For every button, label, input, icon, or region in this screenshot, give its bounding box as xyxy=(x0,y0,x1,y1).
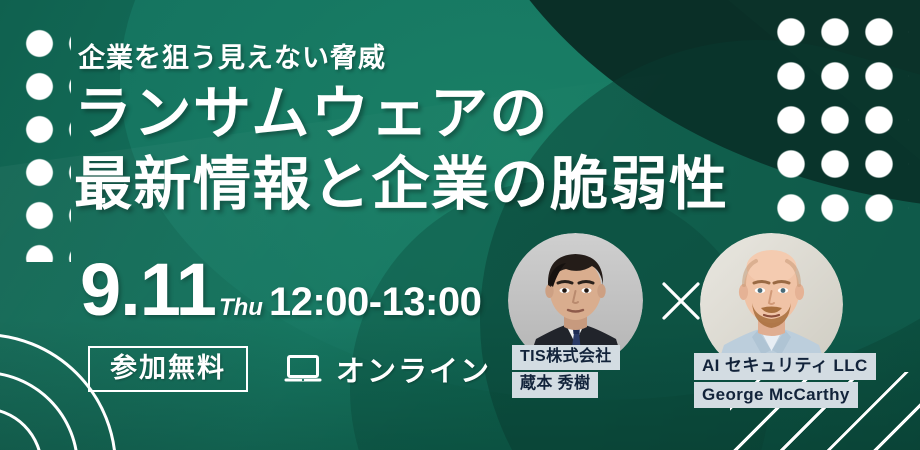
format-group: オンライン xyxy=(284,348,491,390)
speaker-company: AI セキュリティ LLC xyxy=(694,353,876,380)
speaker-caption-2: AI セキュリティ LLC George McCarthy xyxy=(694,353,876,410)
event-time: 12:00-13:00 xyxy=(269,280,481,325)
speaker-card-1: TIS株式会社 蔵本 秀樹 xyxy=(508,233,643,368)
banner-subtitle: 企業を狙う見えない脅威 xyxy=(78,36,386,75)
laptop-icon xyxy=(284,354,322,384)
page-title-line-2: 最新情報と企業の脆弱性 xyxy=(74,156,729,214)
event-date: 9.11 xyxy=(80,256,216,324)
x-cross-icon xyxy=(660,280,702,322)
event-badges: 参加無料 オンライン xyxy=(88,346,491,392)
speaker-card-2: AI セキュリティ LLC George McCarthy xyxy=(700,233,843,376)
page-title-line-1: ランサムウェアの xyxy=(74,85,549,143)
format-label: オンライン xyxy=(336,348,491,390)
fee-badge: 参加無料 xyxy=(88,346,248,392)
event-datetime: 9.11 Thu 12:00-13:00 xyxy=(80,256,481,325)
speaker-caption-1: TIS株式会社 蔵本 秀樹 xyxy=(512,345,620,400)
speaker-name: 蔵本 秀樹 xyxy=(512,372,598,397)
speaker-company: TIS株式会社 xyxy=(512,345,620,370)
speaker-name: George McCarthy xyxy=(694,382,858,409)
event-day-of-week: Thu xyxy=(219,294,263,322)
speakers-section: TIS株式会社 蔵本 秀樹 xyxy=(508,233,908,448)
webinar-banner: 企業を狙う見えない脅威 ランサムウェアの 最新情報と企業の脆弱性 9.11 Th… xyxy=(0,0,920,450)
